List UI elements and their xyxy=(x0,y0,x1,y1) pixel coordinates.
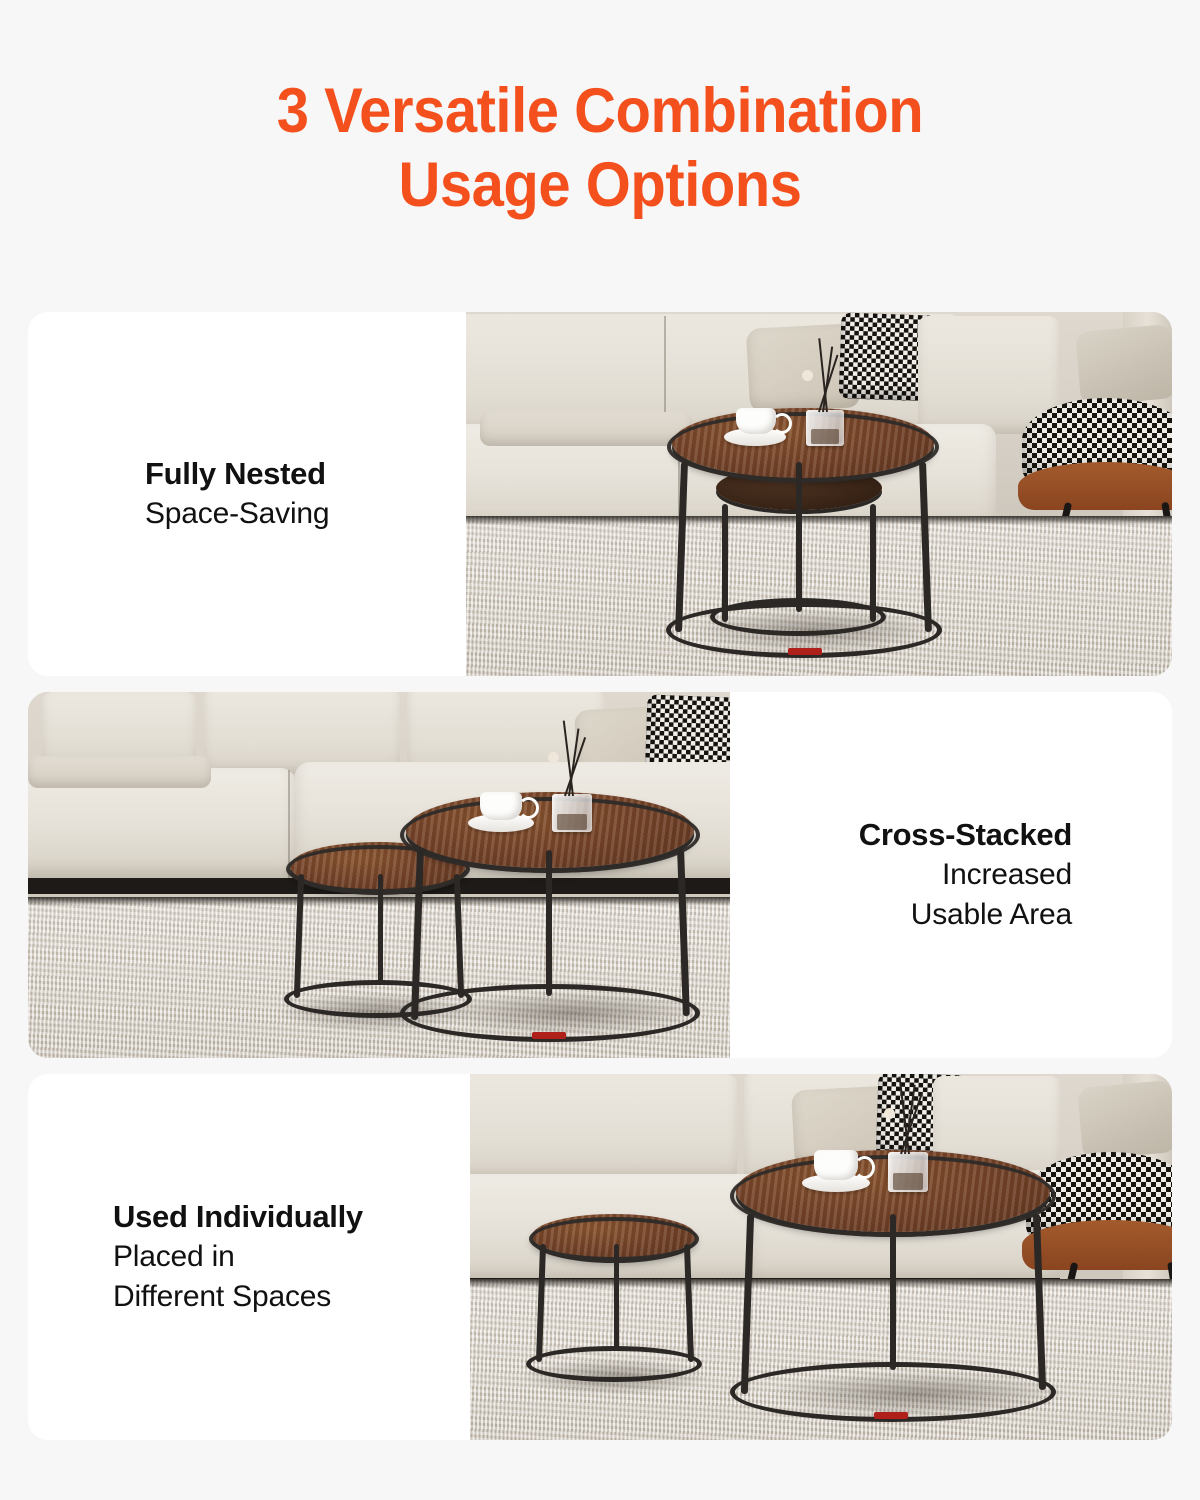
panel-cross-stacked-subtitle: Increased Usable Area xyxy=(911,855,1072,935)
panel-used-individually-photo xyxy=(470,1074,1172,1440)
panel-cross-stacked-text: Cross-Stacked Increased Usable Area xyxy=(742,692,1072,1058)
panel-fully-nested: Fully Nested Space-Saving xyxy=(28,312,1172,676)
panel-fully-nested-photo xyxy=(466,312,1172,676)
page-title: 3 Versatile Combination Usage Options xyxy=(48,74,1152,222)
panel-cross-stacked: Cross-Stacked Increased Usable Area xyxy=(28,692,1172,1058)
panel-fully-nested-title: Fully Nested xyxy=(145,454,326,494)
panel-fully-nested-subtitle: Space-Saving xyxy=(145,494,329,534)
panel-used-individually-subtitle: Placed in Different Spaces xyxy=(113,1237,331,1317)
panel-used-individually: Used Individually Placed in Different Sp… xyxy=(28,1074,1172,1440)
panel-used-individually-title: Used Individually xyxy=(113,1197,363,1237)
panel-used-individually-text: Used Individually Placed in Different Sp… xyxy=(113,1074,473,1440)
panel-cross-stacked-photo xyxy=(28,692,730,1058)
panel-fully-nested-text: Fully Nested Space-Saving xyxy=(145,312,475,676)
panel-cross-stacked-title: Cross-Stacked xyxy=(859,815,1072,855)
